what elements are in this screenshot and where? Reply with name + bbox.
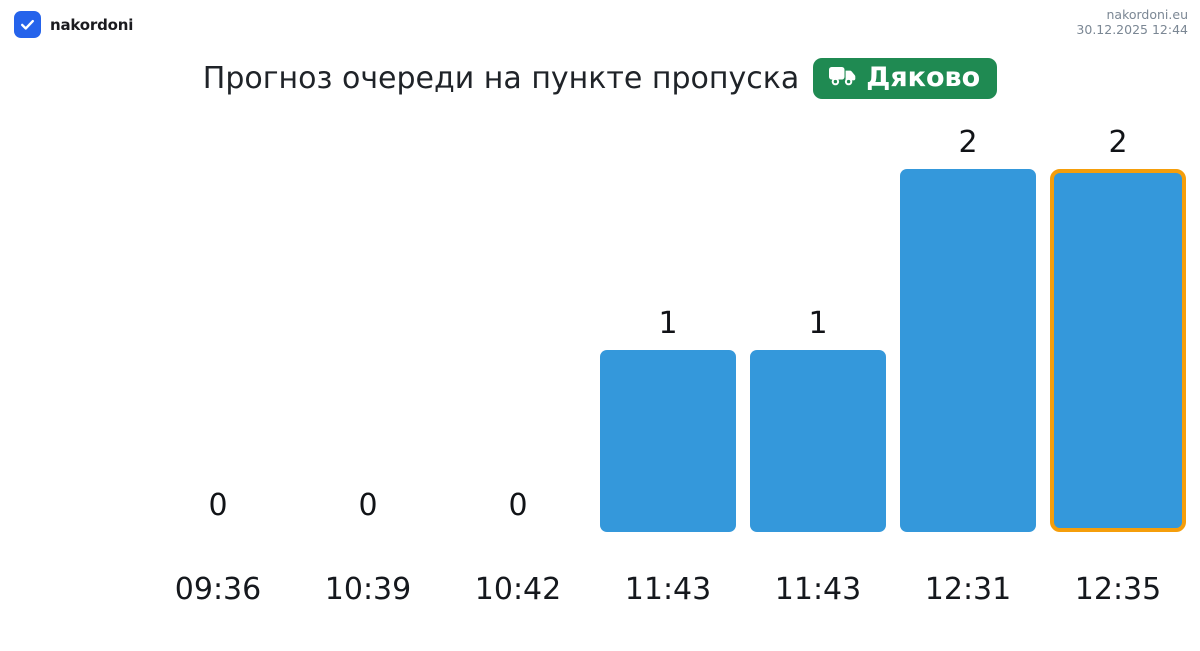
chart-bar-value: 0: [450, 491, 586, 521]
chart-x-tick-label: 12:35: [1050, 575, 1186, 605]
queue-forecast-page: nakordoni nakordoni.eu 30.12.2025 12:44 …: [0, 0, 1200, 651]
chart-bar-value: 0: [150, 491, 286, 521]
chart-column[interactable]: 010:39: [300, 110, 436, 651]
checkpoint-name: Дяково: [866, 64, 980, 91]
truck-icon: [828, 64, 858, 91]
queue-forecast-chart: 009:36010:39010:42111:43111:43212:31212:…: [0, 110, 1200, 651]
chart-bar[interactable]: [750, 350, 886, 532]
chart-x-tick-label: 12:31: [900, 575, 1036, 605]
chart-x-tick-label: 10:42: [450, 575, 586, 605]
page-meta: nakordoni.eu 30.12.2025 12:44: [1076, 7, 1188, 37]
page-title: Прогноз очереди на пункте пропуска Дяков…: [0, 58, 1200, 99]
timestamp: 30.12.2025 12:44: [1076, 22, 1188, 37]
chart-bar-value: 2: [900, 128, 1036, 158]
brand-logo[interactable]: nakordoni: [14, 11, 133, 38]
chart-column[interactable]: 212:35: [1050, 110, 1186, 651]
page-title-text: Прогноз очереди на пункте пропуска: [203, 61, 799, 96]
chart-column[interactable]: 212:31: [900, 110, 1036, 651]
chart-bar-value: 2: [1050, 128, 1186, 158]
checkpoint-badge[interactable]: Дяково: [813, 58, 997, 99]
chart-bar-current[interactable]: [1050, 169, 1186, 532]
chart-column[interactable]: 111:43: [600, 110, 736, 651]
chart-x-tick-label: 09:36: [150, 575, 286, 605]
site-name: nakordoni.eu: [1076, 7, 1188, 22]
chart-bar[interactable]: [900, 169, 1036, 532]
chart-bar-value: 1: [600, 309, 736, 339]
chart-column[interactable]: 010:42: [450, 110, 586, 651]
chart-bar-value: 1: [750, 309, 886, 339]
chart-x-tick-label: 11:43: [750, 575, 886, 605]
brand-name: nakordoni: [50, 16, 133, 34]
chart-x-tick-label: 11:43: [600, 575, 736, 605]
chart-column[interactable]: 009:36: [150, 110, 286, 651]
chart-x-tick-label: 10:39: [300, 575, 436, 605]
chart-column[interactable]: 111:43: [750, 110, 886, 651]
check-badge-icon: [14, 11, 41, 38]
chart-bar-value: 0: [300, 491, 436, 521]
chart-bar[interactable]: [600, 350, 736, 532]
